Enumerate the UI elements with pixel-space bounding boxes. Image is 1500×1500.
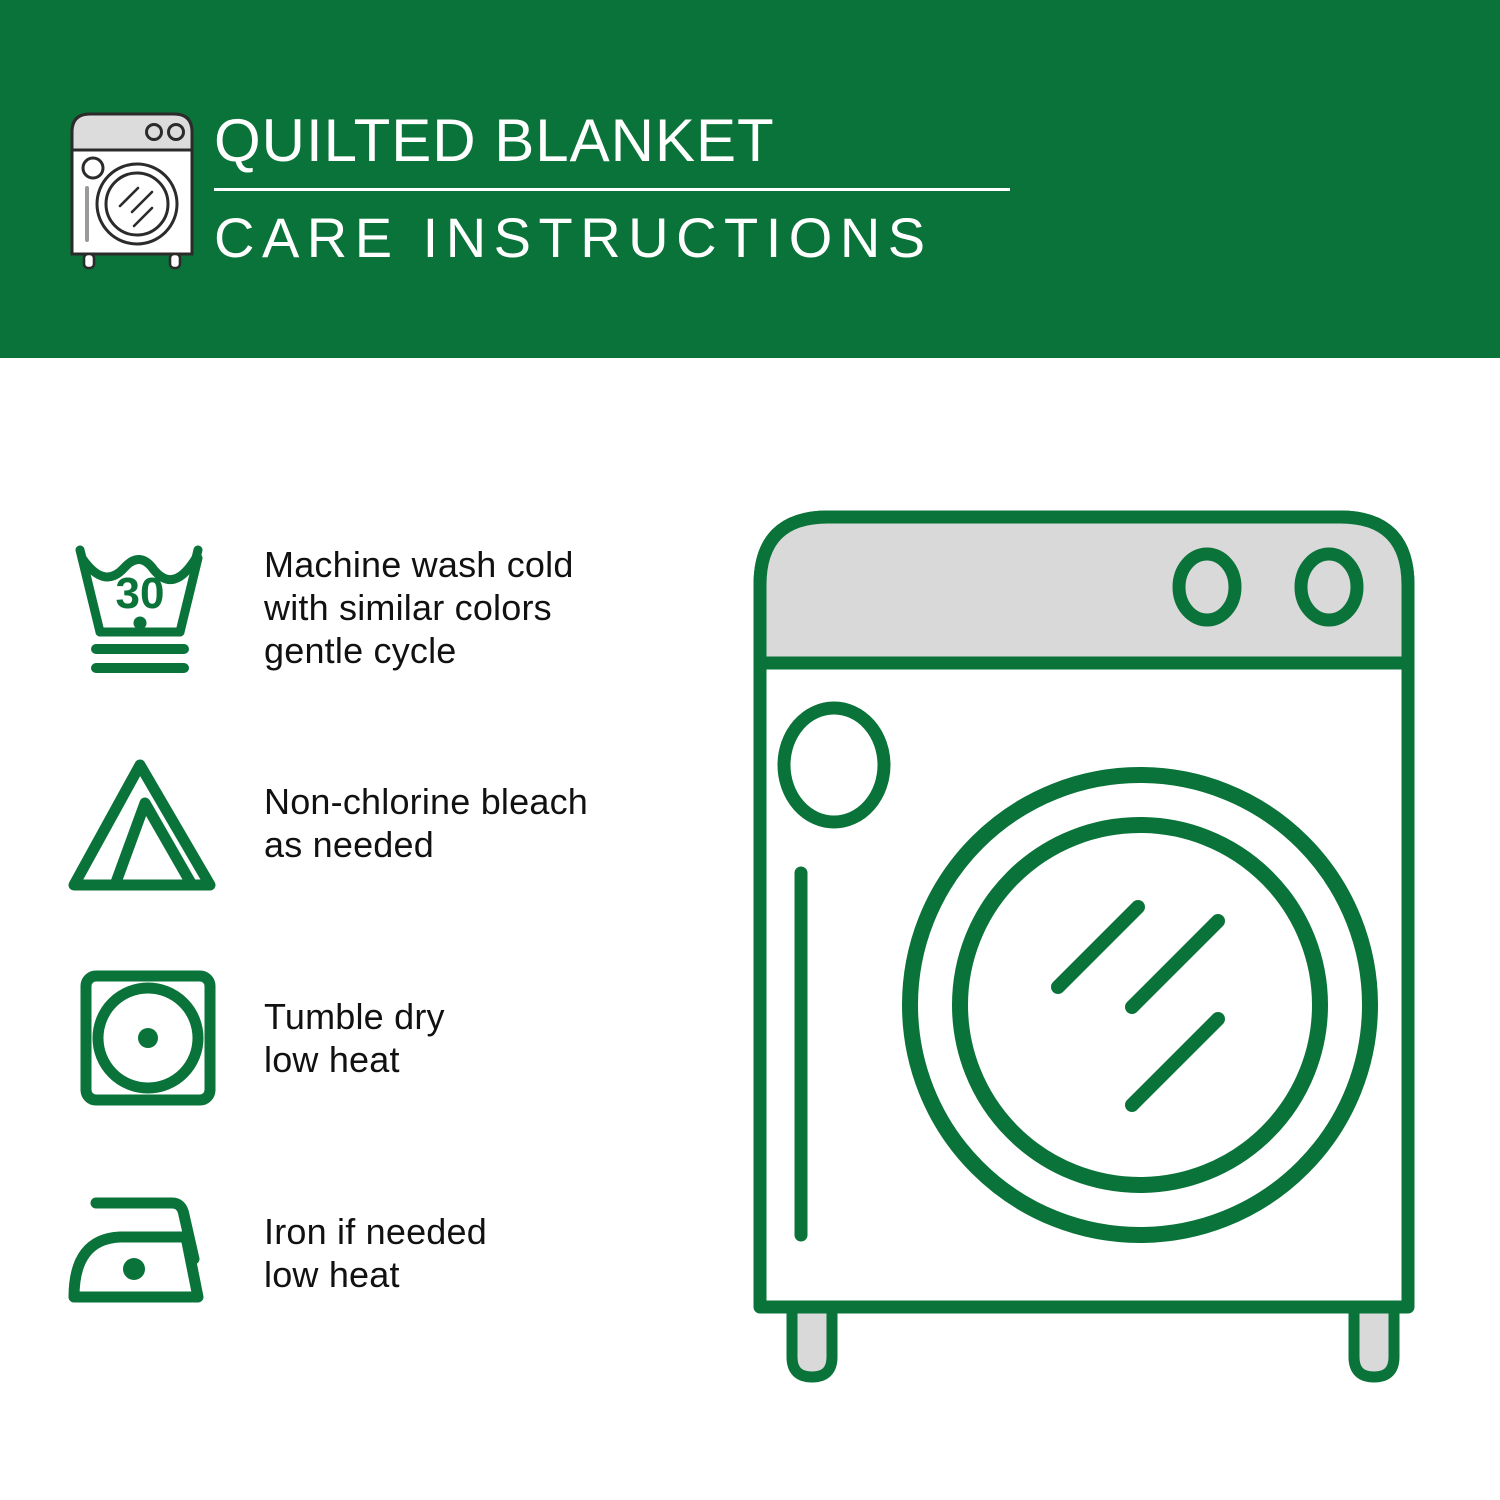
tumble-dry-low-icon bbox=[62, 948, 242, 1128]
care-text-iron: Iron if needed low heat bbox=[264, 1210, 487, 1296]
detergent-dispenser bbox=[784, 708, 884, 822]
care-row-bleach: Non-chlorine bleach as needed bbox=[0, 715, 720, 930]
care-text-bleach: Non-chlorine bleach as needed bbox=[264, 780, 588, 866]
care-row-machine-wash: 30 Machine wash cold with similar colors… bbox=[0, 500, 720, 715]
control-knob-2 bbox=[1301, 554, 1357, 620]
header-banner: QUILTED BLANKET CARE INSTRUCTIONS bbox=[0, 0, 1500, 358]
care-text-tumble-dry: Tumble dry low heat bbox=[264, 995, 445, 1081]
washing-machine-icon bbox=[62, 106, 202, 271]
non-chlorine-bleach-triangle-icon bbox=[62, 733, 242, 913]
page-subtitle: CARE INSTRUCTIONS bbox=[214, 205, 1014, 271]
title-divider bbox=[214, 188, 1010, 191]
wash-basin-30-icon: 30 bbox=[62, 518, 242, 698]
care-text-machine-wash: Machine wash cold with similar colors ge… bbox=[264, 543, 574, 672]
wash-temperature-label: 30 bbox=[116, 569, 165, 618]
header-text-block: QUILTED BLANKET CARE INSTRUCTIONS bbox=[214, 104, 1014, 271]
care-instructions-page: QUILTED BLANKET CARE INSTRUCTIONS 30 bbox=[0, 0, 1500, 1500]
iron-low-heat-icon bbox=[62, 1163, 242, 1343]
control-knob-1 bbox=[1179, 554, 1235, 620]
care-row-iron: Iron if needed low heat bbox=[0, 1145, 720, 1360]
care-row-tumble-dry: Tumble dry low heat bbox=[0, 930, 720, 1145]
front-load-washing-machine-illustration bbox=[740, 495, 1450, 1425]
page-title: QUILTED BLANKET bbox=[214, 104, 1014, 178]
care-instruction-list: 30 Machine wash cold with similar colors… bbox=[0, 500, 720, 1360]
